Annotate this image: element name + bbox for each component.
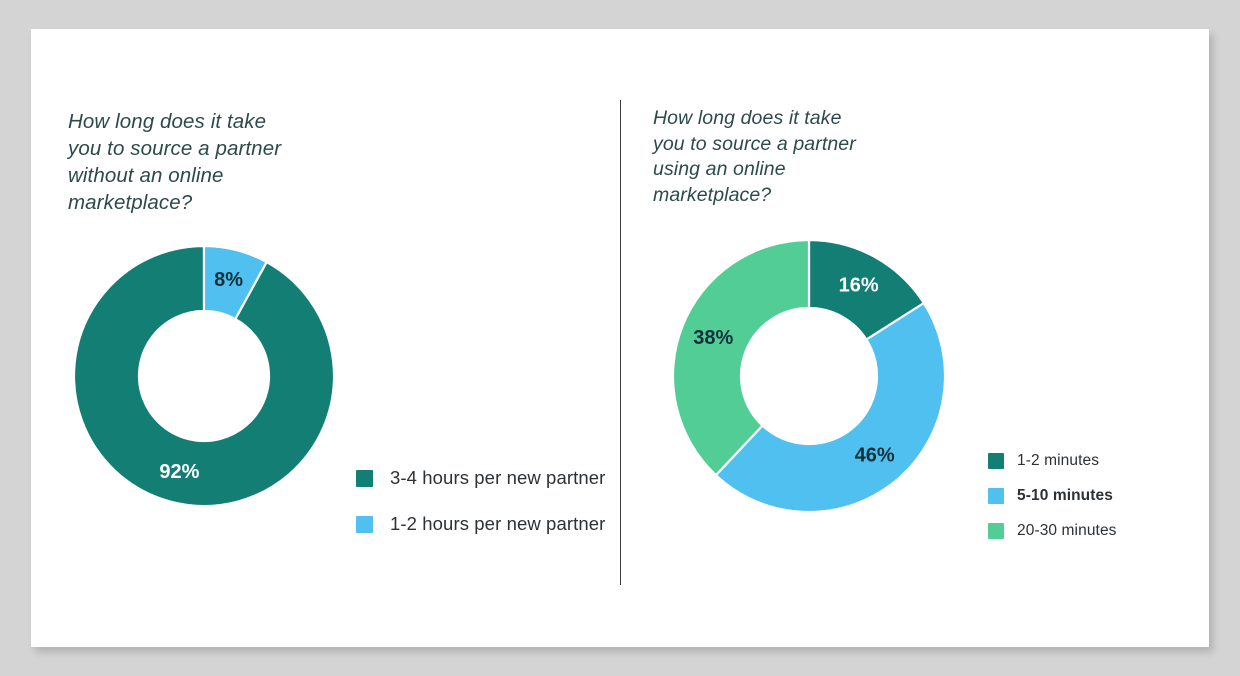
legend-swatch-icon (356, 470, 373, 487)
donut-chart-left: 92%8% (73, 245, 335, 507)
legend-item[interactable]: 20-30 minutes (988, 522, 1117, 540)
donut-slice-value-label: 38% (693, 327, 733, 349)
legend-swatch-icon (988, 523, 1004, 539)
legend-swatch-icon (988, 488, 1004, 504)
legend-swatch-icon (988, 453, 1004, 469)
legend-item-label: 1-2 hours per new partner (390, 513, 605, 535)
legend-item-label: 20-30 minutes (1017, 522, 1117, 540)
legend-left: 3-4 hours per new partner 1-2 hours per … (356, 467, 605, 535)
donut-slice-value-label: 8% (214, 269, 243, 291)
donut-slice-value-label: 92% (159, 461, 199, 483)
legend-right: 1-2 minutes 5-10 minutes 20-30 minutes (988, 452, 1117, 540)
legend-item[interactable]: 1-2 hours per new partner (356, 513, 605, 535)
legend-item[interactable]: 3-4 hours per new partner (356, 467, 605, 489)
chart-panel-without-marketplace: How long does it take you to source a pa… (0, 0, 620, 676)
legend-item-label: 3-4 hours per new partner (390, 467, 605, 489)
donut-chart-right: 16%46%38% (673, 240, 945, 512)
legend-swatch-icon (356, 516, 373, 533)
chart-panel-with-marketplace: How long does it take you to source a pa… (620, 0, 1240, 676)
chart-title-left: How long does it take you to source a pa… (68, 108, 358, 216)
chart-title-right: How long does it take you to source a pa… (653, 106, 943, 209)
legend-item-label: 1-2 minutes (1017, 452, 1099, 470)
donut-slice-value-label: 46% (855, 444, 895, 466)
legend-item-label: 5-10 minutes (1017, 487, 1113, 505)
slide-canvas: How long does it take you to source a pa… (0, 0, 1240, 676)
donut-slice-value-label: 16% (839, 275, 879, 297)
legend-item[interactable]: 5-10 minutes (988, 487, 1117, 505)
legend-item[interactable]: 1-2 minutes (988, 452, 1117, 470)
